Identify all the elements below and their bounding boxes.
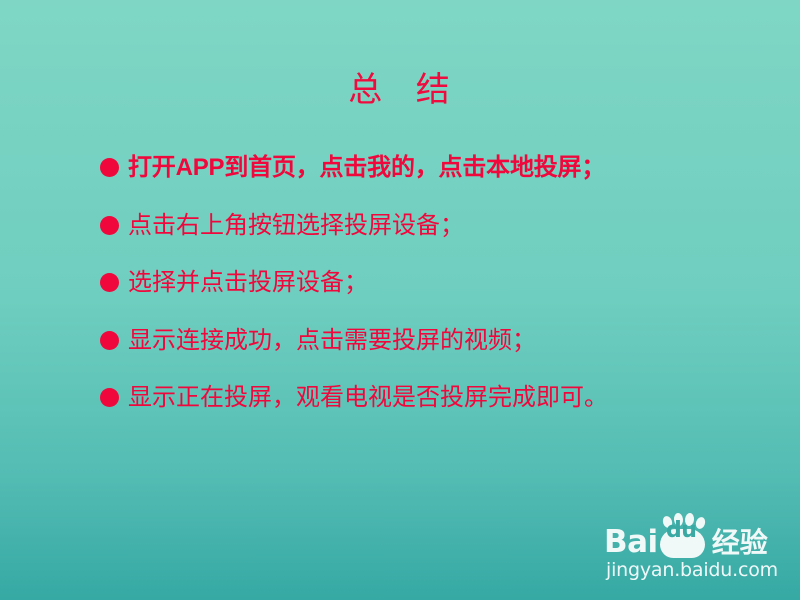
watermark-url-text: jingyan.baidu.com	[606, 558, 778, 582]
list-item-text: 打开APP到首页，点击我的，点击本地投屏；	[128, 152, 770, 184]
list-item: 打开APP到首页，点击我的，点击本地投屏；	[100, 152, 770, 210]
list-item: 显示连接成功，点击需要投屏的视频；	[100, 325, 770, 383]
list-item-text: 选择并点击投屏设备；	[128, 267, 770, 299]
list-item: 选择并点击投屏设备；	[100, 267, 770, 325]
bullet-dot-icon	[100, 216, 119, 235]
bullet-dot-icon	[100, 331, 119, 350]
list-item-text: 点击右上角按钮选择投屏设备；	[128, 210, 770, 242]
baidu-logo-latin-text: Bai	[604, 527, 658, 558]
bullet-dot-icon	[100, 388, 119, 407]
list-item: 显示正在投屏，观看电视是否投屏完成即可。	[100, 382, 770, 440]
bear-paw-icon: du	[659, 516, 707, 558]
list-item-text: 显示正在投屏，观看电视是否投屏完成即可。	[128, 382, 770, 414]
bullet-dot-icon	[100, 158, 119, 177]
baidu-logo: Bai du 经验	[604, 516, 768, 558]
summary-bullet-list: 打开APP到首页，点击我的，点击本地投屏； 点击右上角按钮选择投屏设备； 选择并…	[100, 152, 770, 440]
baidu-logo-cn-text: 经验	[712, 528, 768, 558]
page-title: 总 结	[0, 70, 800, 112]
bullet-dot-icon	[100, 273, 119, 292]
baidu-jingyan-watermark: Bai du 经验 jingyan.baidu.com	[604, 516, 782, 582]
presentation-slide: 总 结 打开APP到首页，点击我的，点击本地投屏； 点击右上角按钮选择投屏设备；…	[0, 0, 800, 600]
list-item-text: 显示连接成功，点击需要投屏的视频；	[128, 325, 770, 357]
list-item: 点击右上角按钮选择投屏设备；	[100, 210, 770, 268]
baidu-logo-paw-text: du	[659, 516, 704, 545]
